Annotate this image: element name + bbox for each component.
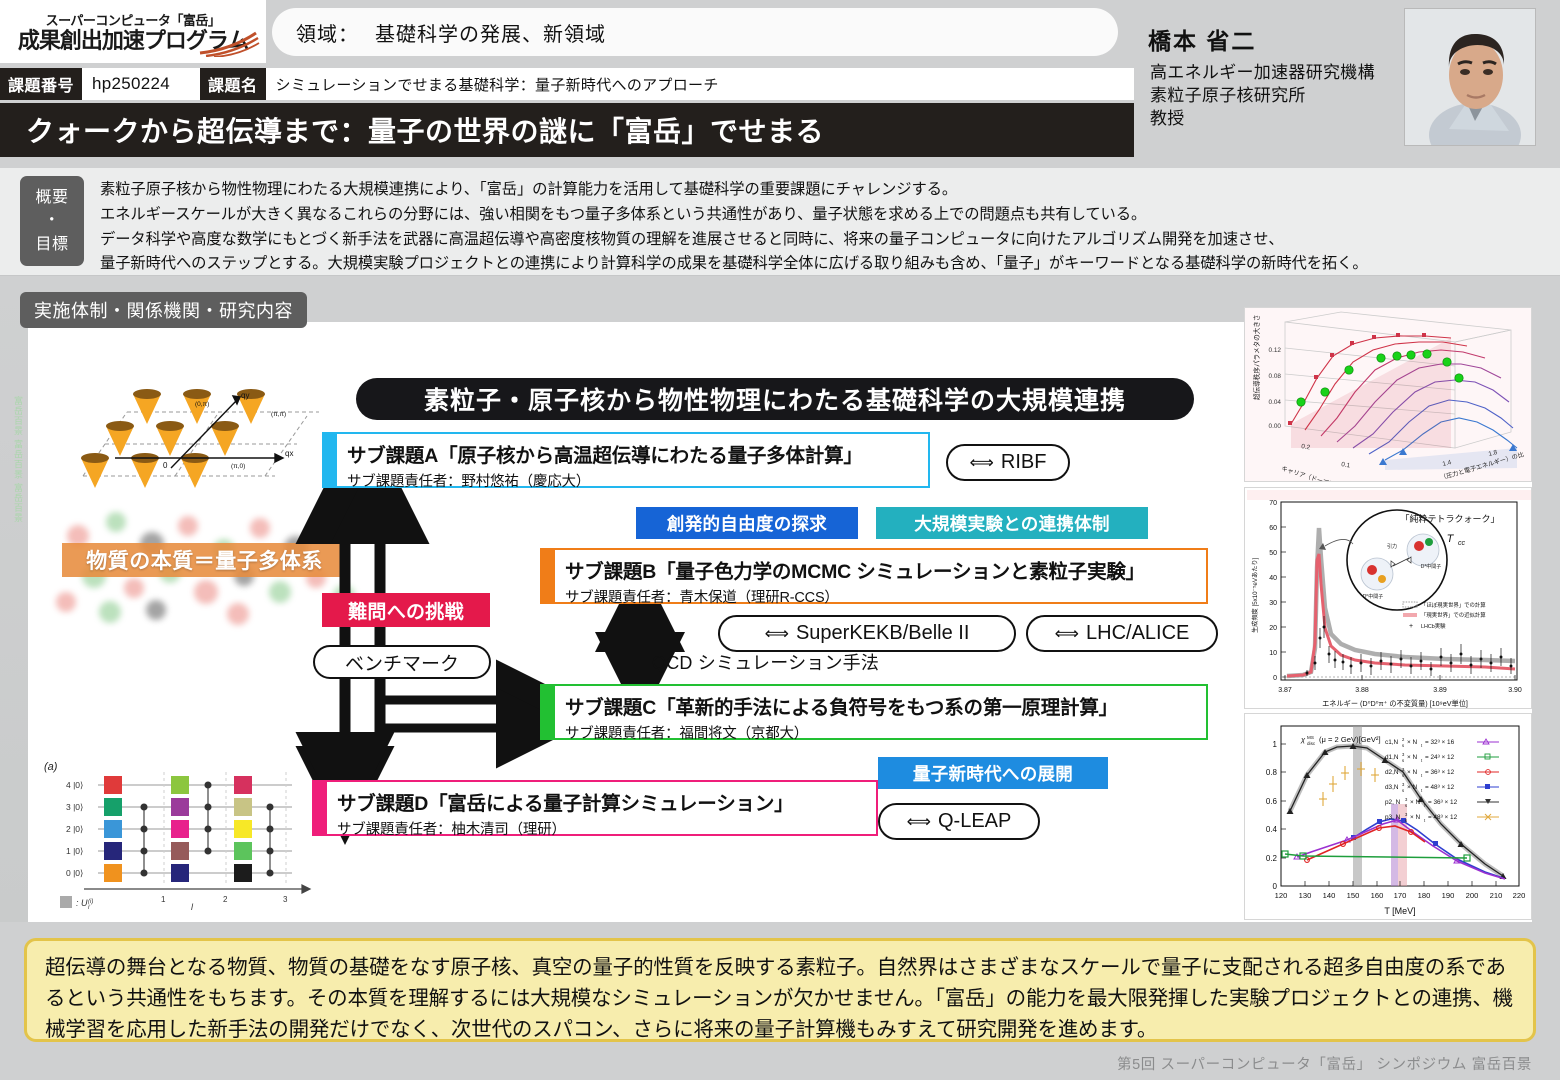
cones-y-axis-label: qy (241, 391, 249, 400)
legend-c1: c1,N (1385, 739, 1399, 746)
svg-text:(π,π): (π,π) (271, 411, 286, 418)
svg-text:3.87: 3.87 (1278, 687, 1292, 694)
legend-d2: d2,N (1385, 769, 1399, 776)
summary-line: エネルギースケールが大きく異なるこれらの分野には、強い相関をもつ量子多体系という… (100, 203, 1550, 228)
subtheme-d-title: サブ課題D「富岳による量子計算シミュレーション」 (337, 787, 793, 816)
inset-dstar-label: D*中間子 (1421, 563, 1442, 570)
svg-text:0: 0 (1273, 882, 1278, 891)
page-title: クォークから超伝導まで：量子の世界の謎に「富岳」でせまる (0, 103, 1134, 157)
summary-line: 素粒子原子核から物性物理にわたる大規模連携により、「富岳」の計算能力を活用して基… (100, 178, 1550, 203)
svg-text:130: 130 (1299, 891, 1312, 900)
chip-qleap[interactable]: ⟺ Q-LEAP (878, 803, 1040, 840)
legend-item-real-approx: 「現実世界」での近似計算 (1421, 611, 1486, 619)
subtheme-c[interactable]: サブ課題C「革新的手法による負符号をもつ系の第一原理計算」 サブ課題責任者：福間… (540, 684, 1208, 740)
legend-p2: p2, N (1385, 799, 1401, 806)
subtheme-a-leader: サブ課題責任者：野村悠祐（慶応大） (347, 470, 863, 491)
svg-text:210: 210 (1490, 891, 1503, 900)
band-gray (1353, 726, 1362, 886)
chart3d-ylabel: 超伝導秩序パラメタの大きさ (1252, 314, 1261, 400)
svg-text:= 36³ × 12: = 36³ × 12 (1425, 769, 1455, 776)
chartTcc-title: 「純粋テトラクォーク」 (1400, 513, 1499, 524)
footer-text: 第5回 スーパーコンピュータ「富岳」 シンポジウム 富岳百景 (1117, 1053, 1532, 1074)
svg-text:2 |0⟩: 2 |0⟩ (66, 824, 83, 834)
svg-text:2: 2 (223, 895, 228, 904)
double-arrow-icon: ⟺ (765, 624, 789, 644)
svg-text:0.4: 0.4 (1266, 825, 1278, 834)
chartChi-title: χ (1300, 735, 1306, 744)
subtheme-c-color-bar (542, 686, 555, 738)
svg-text:× N: × N (1410, 799, 1421, 806)
svg-text:× N: × N (1407, 784, 1418, 791)
svg-text:s: s (1402, 758, 1404, 763)
summary-tag-line2: ・ (44, 209, 61, 232)
section-tag-implementation: 実施体制・関係機関・研究内容 (20, 292, 307, 328)
svg-text:120: 120 (1275, 891, 1288, 900)
poster-page: 富岳百景 富岳百景 富岳百景 スーパーコンピュータ「富岳」 成果創出加速プログラ… (0, 0, 1560, 1080)
task-name-value: シミュレーションでせまる基礎科学：量子新時代へのアプローチ (266, 68, 1134, 100)
svg-text:70: 70 (1269, 500, 1277, 507)
logo-line1: スーパーコンピュータ「富岳」 (46, 10, 221, 29)
pi-name: 橋本 省二 (1148, 22, 1256, 56)
subtheme-d[interactable]: サブ課題D「富岳による量子計算シミュレーション」 サブ課題責任者：柚木清司（理研… (312, 780, 878, 836)
svg-text:160: 160 (1371, 891, 1384, 900)
chip-ribf[interactable]: ⟺ RIBF (946, 444, 1070, 481)
svg-text:60: 60 (1269, 525, 1277, 532)
task-number-value: hp250224 (82, 68, 200, 100)
chip-lhc-alice-label: LHC/ALICE (1086, 622, 1189, 645)
chart-superconducting-3d: 0.000.04 0.080.12 超伝導秩序パラメタの大きさ (1244, 307, 1532, 482)
pi-affiliation-line3: 教授 (1150, 108, 1375, 131)
svg-text:40: 40 (1269, 575, 1277, 582)
svg-text:30: 30 (1269, 600, 1277, 607)
tag-challenge: 難問への挑戦 (322, 593, 490, 627)
inset-d0-label: D⁰中間子 (1363, 593, 1384, 600)
svg-text:× N: × N (1410, 814, 1421, 821)
svg-text:3.89: 3.89 (1433, 687, 1447, 694)
svg-text:0.12: 0.12 (1269, 347, 1282, 354)
svg-text:= 48³ × 12: = 48³ × 12 (1428, 814, 1458, 821)
chip-qleap-label: Q-LEAP (938, 810, 1011, 833)
svg-text:10: 10 (1269, 650, 1277, 657)
tag-emergent-dof: 創発的自由度の探求 (636, 507, 858, 539)
svg-text:0 |0⟩: 0 |0⟩ (66, 868, 83, 878)
svg-text:+: + (1409, 623, 1413, 630)
subtheme-b-title: サブ課題B「量子色力学のMCMC シミュレーションと素粒子実験」 (565, 555, 1145, 584)
summary-text: 素粒子原子核から物性物理にわたる大規模連携により、「富岳」の計算能力を活用して基… (100, 178, 1550, 277)
svg-text:(0,π): (0,π) (195, 401, 209, 408)
subtheme-c-title: サブ課題C「革新的手法による負符号をもつ系の第一原理計算」 (565, 691, 1118, 720)
svg-text:(π,0): (π,0) (231, 463, 245, 470)
svg-text:0.04: 0.04 (1269, 399, 1282, 406)
svg-text:cc: cc (1458, 540, 1466, 547)
pi-affiliation-line2: 素粒子原子核研究所 (1150, 85, 1375, 108)
svg-text:180: 180 (1418, 891, 1431, 900)
left-watermark-text: 富岳百景 富岳百景 富岳百景 (1, 396, 23, 776)
svg-text:× N: × N (1407, 739, 1418, 746)
tag-quantum-new-era: 量子新時代への展開 (878, 757, 1108, 789)
subtheme-a[interactable]: サブ課題A「原子核から高温超伝導にわたる量子多体計算」 サブ課題責任者：野村悠祐… (322, 432, 930, 488)
svg-text:50: 50 (1269, 550, 1277, 557)
dirac-cones-figure: qx qy 0 (0,π) (π,π) (π,0) (75, 372, 335, 492)
svg-text:× N: × N (1407, 754, 1418, 761)
chart-tcc-tetraquark: 706050 403020 100 生成頻度 [5x10⁻⁵eVあたり] (1244, 487, 1532, 709)
summary-tag-line1: 概要 (35, 186, 68, 209)
legend-d1: d1,N (1385, 754, 1399, 761)
chip-lhc-alice[interactable]: ⟺ LHC/ALICE (1026, 615, 1218, 652)
svg-text:0.6: 0.6 (1266, 797, 1278, 806)
svg-text:= 36³ × 12: = 36³ × 12 (1428, 799, 1458, 806)
svg-text:170: 170 (1394, 891, 1407, 900)
svg-text:200: 200 (1466, 891, 1479, 900)
svg-text:1: 1 (1273, 740, 1278, 749)
summary-section: 概要 ・ 目標 素粒子原子核から物性物理にわたる大規模連携により、「富岳」の計算… (0, 168, 1560, 276)
svg-text:0.2: 0.2 (1266, 854, 1278, 863)
tag-large-experiment-link: 大規模実験との連携体制 (876, 507, 1148, 539)
svg-text:0.08: 0.08 (1269, 373, 1282, 380)
svg-text:s: s (1402, 788, 1404, 793)
conclusion-box: 超伝導の舞台となる物質、物質の基礎をなす原子核、真空の量子的性質を反映する素粒子… (24, 938, 1536, 1042)
task-number-tag: 課題番号 (0, 68, 82, 100)
logo-swoosh-icon (198, 31, 260, 57)
svg-text:1 |0⟩: 1 |0⟩ (66, 846, 83, 856)
svg-text:s: s (1405, 818, 1407, 823)
cones-x-axis-label: qx (285, 449, 293, 458)
domain-label: 領域： (296, 18, 359, 47)
pi-affiliation-line1: 高エネルギー加速器研究機構 (1150, 62, 1375, 85)
svg-text:= 48³ × 12: = 48³ × 12 (1425, 784, 1455, 791)
summary-line: 量子新時代へのステップとする。大規模実験プロジェクトとの連携により計算科学の成果… (100, 252, 1550, 277)
svg-text:s: s (1402, 773, 1404, 778)
domain-value: 基礎科学の発展、新領域 (375, 18, 606, 47)
svg-text:3.88: 3.88 (1355, 687, 1369, 694)
svg-text:220: 220 (1513, 891, 1526, 900)
collaboration-banner: 素粒子・原子核から物性物理にわたる基礎科学の大規模連携 (356, 378, 1194, 420)
chip-benchmark[interactable]: ベンチマーク (313, 645, 491, 679)
svg-text:3: 3 (283, 895, 288, 904)
subtheme-c-leader: サブ課題責任者：福間将文（京都大） (565, 722, 1118, 743)
chartTcc-xlabel: エネルギー (D⁰D⁰π⁺ の不変質量) [10⁹eV単位] (1322, 699, 1468, 708)
orange-band-label: 物質の本質＝量子多体系 (62, 543, 347, 577)
legend-p3: p3, N (1385, 814, 1401, 821)
svg-text:s: s (1402, 743, 1404, 748)
svg-text:MS: MS (1307, 735, 1314, 740)
inset-force-label: 引力 (1387, 543, 1397, 550)
task-name-tag: 課題名 (200, 68, 266, 100)
circuit-x-label: l (191, 902, 194, 912)
summary-tag-line3: 目標 (35, 233, 68, 256)
svg-text:disc: disc (1307, 741, 1316, 746)
svg-text:3 |0⟩: 3 |0⟩ (66, 802, 83, 812)
chart-chiral-susceptibility: 10.80.6 0.40.20 χ MS disc (μ = 2 GeV)[Ge… (1244, 713, 1532, 920)
chip-ribf-label: RIBF (1001, 451, 1047, 474)
svg-text:140: 140 (1323, 891, 1336, 900)
subtheme-a-color-bar (324, 434, 337, 486)
chip-benchmark-label: ベンチマーク (345, 649, 459, 676)
legend-d3: d3,N (1385, 784, 1399, 791)
program-logo: スーパーコンピュータ「富岳」 成果創出加速プログラム (0, 0, 266, 63)
double-arrow-icon: ⟺ (907, 812, 931, 832)
svg-text:3.90: 3.90 (1508, 687, 1522, 694)
double-arrow-icon: ⟺ (1055, 624, 1079, 644)
svg-text:0.00: 0.00 (1269, 423, 1282, 430)
svg-text:0: 0 (1273, 675, 1277, 682)
svg-text:s: s (1405, 803, 1407, 808)
svg-text:150: 150 (1347, 891, 1360, 900)
legend-item-near-real: 「ほぼ現実世界」での計算 (1421, 601, 1486, 609)
svg-text:(μ = 2 GeV)[GeV²]: (μ = 2 GeV)[GeV²] (1319, 735, 1381, 744)
subtheme-a-title: サブ課題A「原子核から高温超伝導にわたる量子多体計算」 (347, 439, 863, 468)
svg-text:1: 1 (161, 895, 166, 904)
chip-superkekb-label: SuperKEKB/Belle II (796, 622, 969, 645)
subtheme-b-color-bar (542, 550, 555, 602)
svg-text:190: 190 (1442, 891, 1455, 900)
circuit-panel-label: (a) (44, 761, 58, 773)
pi-affiliation: 高エネルギー加速器研究機構 素粒子原子核研究所 教授 (1150, 62, 1375, 131)
meta-row: 課題番号 hp250224 課題名 シミュレーションでせまる基礎科学：量子新時代… (0, 68, 1134, 100)
svg-text:= 24³ × 12: = 24³ × 12 (1425, 754, 1455, 761)
pi-portrait-photo (1404, 8, 1536, 146)
domain-field: 領域： 基礎科学の発展、新領域 (272, 8, 1118, 56)
subtheme-b-leader: サブ課題責任者：青木保道（理研R-CCS） (565, 586, 1145, 607)
svg-text:0: 0 (163, 461, 168, 470)
subtheme-b[interactable]: サブ課題B「量子色力学のMCMC シミュレーションと素粒子実験」 サブ課題責任者… (540, 548, 1208, 604)
left-edge-strip: 富岳百景 富岳百景 富岳百景 (0, 276, 28, 922)
summary-line: データ科学や高度な数学にもとづく新手法を武器に高温超伝導や高密度核物質の理解を進… (100, 228, 1550, 253)
svg-text:= 32³ × 16: = 32³ × 16 (1425, 739, 1455, 746)
chartChi-xlabel: T [MeV] (1384, 906, 1415, 916)
svg-text:4 |0⟩: 4 |0⟩ (66, 780, 83, 790)
svg-text:r: r (88, 905, 91, 911)
svg-text:0.8: 0.8 (1266, 768, 1278, 777)
chartTcc-ylabel: 生成頻度 [5x10⁻⁵eVあたり] (1251, 557, 1259, 633)
double-arrow-icon: ⟺ (970, 453, 994, 473)
legend-item-lhcb: LHCb実験 (1421, 622, 1446, 630)
qcd-method-label: QCD シミュレーション手法 (652, 649, 879, 675)
svg-text:× N: × N (1407, 769, 1418, 776)
chip-superkekb[interactable]: ⟺ SuperKEKB/Belle II (718, 615, 1016, 652)
subtheme-d-leader: サブ課題責任者：柚木清司（理研） (337, 818, 793, 839)
quantum-circuit-figure: (a) 4 |0⟩3 |0⟩2 |0⟩ 1 |0⟩0 |0⟩ (36, 752, 338, 914)
svg-text:20: 20 (1269, 625, 1277, 632)
circuit-legend-label: : U (76, 898, 88, 908)
subtheme-d-color-bar (314, 782, 327, 834)
summary-tag: 概要 ・ 目標 (20, 176, 84, 266)
